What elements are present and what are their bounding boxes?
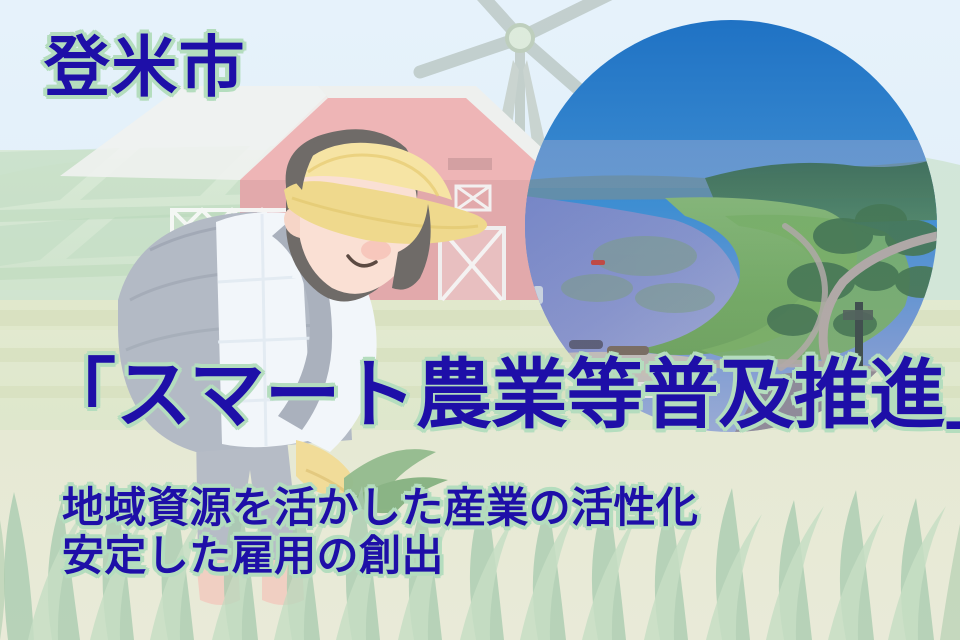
straw-hat [284,143,487,244]
city-name-heading: 登米市 [44,34,246,100]
farmer-eye-right [391,217,405,239]
farmer-cheek [361,240,391,260]
main-title: 「スマート農業等普及推進」 [40,358,960,434]
striped-fields [0,145,520,330]
subtitle-line-1: 地域資源を活かした産業の活性化 [62,487,698,529]
farmer-eye-left [341,203,355,225]
farmer-ear [284,208,300,238]
farmer-mouth [348,256,376,266]
subtitle-line-2: 安定した雇用の創出 [62,535,444,577]
farmer-face [298,144,418,294]
farmer-hair-side [392,204,431,290]
barn-door [438,226,506,300]
barn [60,86,576,300]
barn-loft-cross [456,186,490,210]
poster-root: 登米市 「スマート農業等普及推進」 地域資源を活かした産業の活性化 安定した雇用… [0,0,960,640]
farmer-hair [286,129,418,301]
hill-left [0,159,300,290]
barn-window [448,158,492,170]
trellis-fence [170,210,300,248]
